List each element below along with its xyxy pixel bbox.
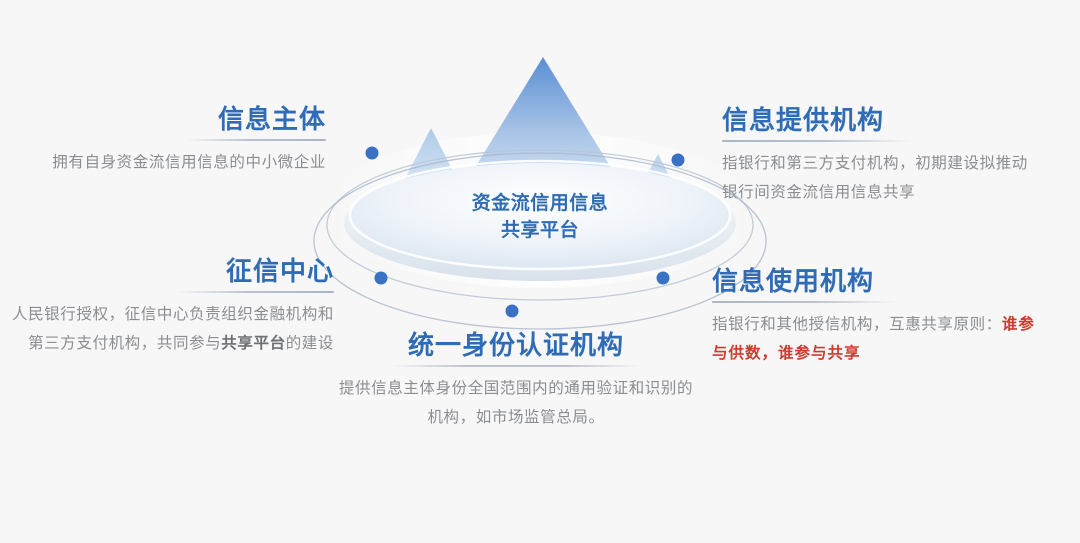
platform-title-line-1: 资金流信用信息	[300, 190, 780, 217]
block-info-user: 信息使用机构 指银行和其他授信机构，互惠共享原则：谁参与供数，谁参与共享	[712, 266, 1048, 368]
block-info-subject-body-text: 拥有自身资金流信用信息的	[52, 154, 245, 171]
block-credit-center-divider	[176, 291, 334, 293]
central-platform-graphic: 资金流信用信息 共享平台	[300, 35, 780, 335]
orbit-node-4	[657, 272, 670, 285]
block-identity-auth: 统一身份认证机构 提供信息主体身份全国范围内的通用验证和识别的机构，如市场监管总…	[336, 330, 696, 432]
block-credit-center-body-emphasis: 共享平台	[221, 335, 285, 352]
block-info-provider-body: 指银行和第三方支付机构，初期建设拟推动银行间资金流信用信息共享	[722, 149, 1042, 207]
block-credit-center-heading: 征信中心	[8, 256, 334, 286]
block-info-provider-divider	[722, 140, 912, 142]
orbit-node-1	[366, 147, 379, 160]
block-info-user-divider	[712, 301, 898, 303]
block-info-subject: 信息主体 拥有自身资金流信用信息的中小微企业	[20, 104, 326, 177]
block-credit-center: 征信中心 人民银行授权，征信中心负责组织金融机构和第三方支付机构，共同参与共享平…	[8, 256, 334, 358]
platform-title-line-2: 共享平台	[300, 217, 780, 244]
block-credit-center-body-text-2: 的建设	[286, 335, 334, 352]
block-identity-auth-body: 提供信息主体身份全国范围内的通用验证和识别的机构，如市场监管总局。	[336, 374, 696, 432]
block-info-user-body: 指银行和其他授信机构，互惠共享原则：谁参与供数，谁参与共享	[712, 310, 1048, 368]
infographic-canvas: 资金流信用信息 共享平台 信息主体 拥有自身资金流信用信息的中小微企业 征信中心…	[0, 0, 1080, 543]
platform-illustration	[300, 35, 780, 335]
block-credit-center-body: 人民银行授权，征信中心负责组织金融机构和第三方支付机构，共同参与共享平台的建设	[8, 300, 334, 358]
orbit-node-5	[506, 305, 519, 318]
block-info-user-heading: 信息使用机构	[712, 266, 1048, 296]
platform-title: 资金流信用信息 共享平台	[300, 190, 780, 244]
orbit-node-3	[375, 272, 388, 285]
block-info-user-body-text: 指银行和其他授信机构，互惠共享原则：	[712, 316, 1002, 333]
block-info-provider: 信息提供机构 指银行和第三方支付机构，初期建设拟推动银行间资金流信用信息共享	[722, 105, 1042, 207]
block-info-provider-heading: 信息提供机构	[722, 105, 1042, 135]
block-info-subject-body: 拥有自身资金流信用信息的中小微企业	[20, 148, 326, 177]
block-info-subject-body-text-2: 中小微企业	[245, 154, 326, 171]
block-identity-auth-divider	[391, 365, 641, 367]
block-info-subject-divider	[186, 139, 326, 141]
block-identity-auth-heading: 统一身份认证机构	[336, 330, 696, 360]
block-info-subject-heading: 信息主体	[20, 104, 326, 134]
orbit-node-2	[672, 154, 685, 167]
